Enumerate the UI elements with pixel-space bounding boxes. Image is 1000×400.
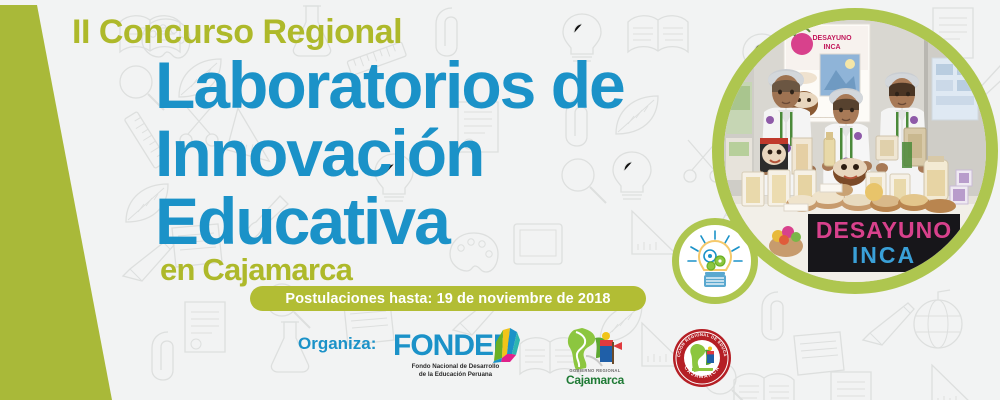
fondep-tagline-line-2: de la Educación Peruana: [393, 371, 518, 379]
organiza-label: Organiza:: [298, 334, 376, 354]
poster-title-line-1: DESAYUNO: [812, 35, 852, 42]
circular-seal-icon: DIRECCIÓN REGIONAL DE EDUCACIÓN CAJAMARC…: [672, 328, 732, 388]
fondep-logo: FONDEP Fondo Nacional de Desarrollo de l…: [393, 328, 518, 386]
gobierno-regional-name: Cajamarca: [552, 373, 638, 387]
direccion-regional-educacion-logo: DIRECCIÓN REGIONAL DE EDUCACIÓN CAJAMARC…: [672, 328, 732, 388]
subheadline-text: en Cajamarca: [160, 252, 352, 288]
banner-root: II Concurso Regional Laboratorios de Inn…: [0, 0, 1000, 400]
deadline-badge-label: Postulaciones hasta: 19 de noviembre de …: [285, 291, 610, 307]
gobierno-regional-cajamarca-logo: GOBIERNO REGIONAL Cajamarca: [552, 326, 638, 388]
banner-text-line-1: DESAYUNO: [816, 217, 952, 243]
fondep-tagline: Fondo Nacional de Desarrollo de la Educa…: [393, 363, 518, 379]
photo-image: DESAYUNO INCA _______________: [724, 20, 986, 282]
headline-line-1: Laboratorios de: [155, 52, 624, 118]
photo-circle: DESAYUNO INCA _______________: [712, 8, 998, 294]
headline-line-2: Innovación: [155, 120, 483, 186]
fondep-tagline-line-1: Fondo Nacional de Desarrollo: [393, 363, 518, 371]
kicker-text: II Concurso Regional: [72, 13, 402, 52]
headline-line-3: Educativa: [155, 188, 449, 254]
deadline-badge: Postulaciones hasta: 19 de noviembre de …: [250, 286, 646, 311]
poster-title-line-2: INCA: [823, 44, 840, 51]
banner-text-line-2: INCA: [852, 242, 916, 268]
cajamarca-map-icon: [552, 326, 638, 372]
